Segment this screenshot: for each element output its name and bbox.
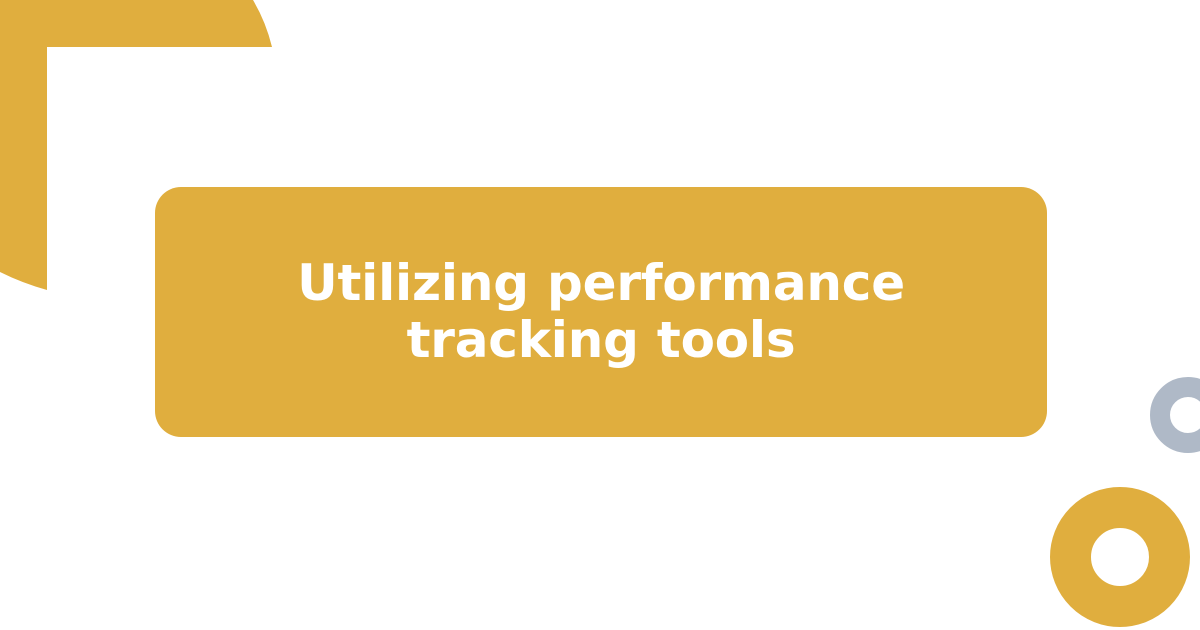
promo-banner-canvas: Utilizing performance tracking tools — [0, 0, 1200, 630]
gray-ring-decoration — [1150, 377, 1200, 453]
yellow-ring-decoration — [1050, 487, 1190, 627]
page-title: Utilizing performance tracking tools — [195, 255, 1007, 369]
title-card: Utilizing performance tracking tools — [155, 187, 1047, 437]
